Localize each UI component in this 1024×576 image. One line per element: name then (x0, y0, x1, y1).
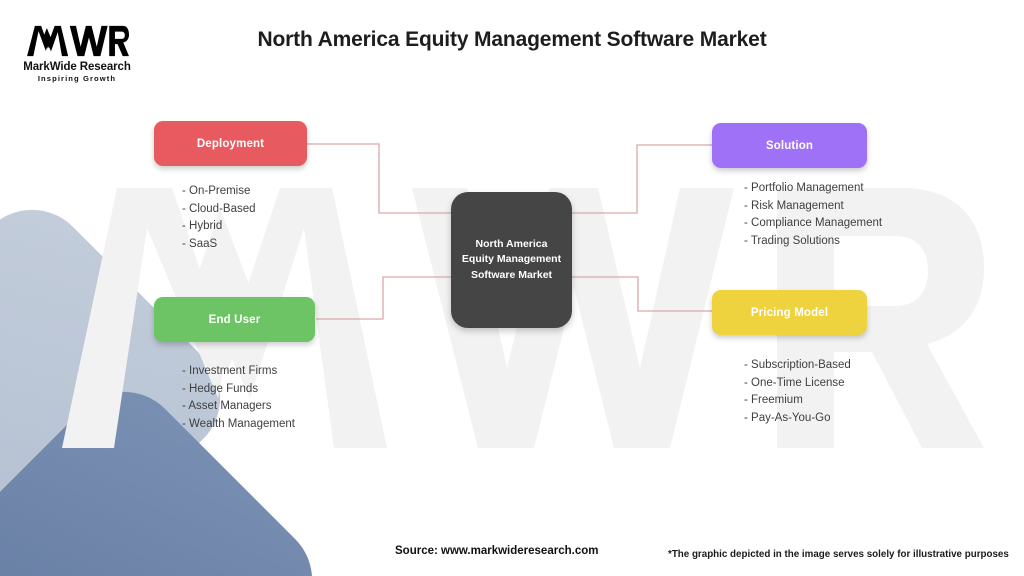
list-item: - Freemium (744, 392, 1022, 410)
list-item: - Asset Managers (182, 398, 454, 416)
branch-label-enduser: End User (209, 314, 261, 326)
list-item: - Risk Management (744, 198, 1022, 216)
list-item: - Investment Firms (182, 363, 454, 381)
branch-label-solution: Solution (766, 140, 813, 152)
branch-items-pricing: - Subscription-Based - One-Time License … (712, 357, 1022, 427)
branch-chip-deployment[interactable]: Deployment (154, 121, 307, 166)
list-item: - SaaS (182, 236, 454, 254)
list-item: - Pay-As-You-Go (744, 410, 1022, 428)
infographic-canvas: MarkWide Research Inspiring Growth North… (0, 0, 1024, 576)
branch-items-deployment: - On-Premise - Cloud-Based - Hybrid - Sa… (154, 183, 454, 253)
list-item: - Hedge Funds (182, 381, 454, 399)
brand-name: MarkWide Research (16, 61, 138, 74)
list-item: - Portfolio Management (744, 180, 1022, 198)
branch-enduser: End User - Investment Firms - Hedge Fund… (154, 297, 454, 433)
center-node-line-2: Equity Management (462, 252, 561, 267)
branch-label-pricing: Pricing Model (751, 307, 828, 319)
branch-items-solution: - Portfolio Management - Risk Management… (712, 180, 1022, 250)
list-item: - Compliance Management (744, 215, 1022, 233)
list-item: - Subscription-Based (744, 357, 1022, 375)
footer-source: Source: www.markwideresearch.com (395, 545, 598, 557)
connector-solution (572, 145, 712, 213)
branch-chip-enduser[interactable]: End User (154, 297, 315, 342)
list-item: - On-Premise (182, 183, 454, 201)
branch-label-deployment: Deployment (197, 138, 264, 150)
branch-items-enduser: - Investment Firms - Hedge Funds - Asset… (154, 363, 454, 433)
branch-chip-solution[interactable]: Solution (712, 123, 867, 168)
branch-deployment: Deployment - On-Premise - Cloud-Based - … (154, 121, 454, 253)
center-node-line-3: Software Market (462, 268, 561, 283)
center-node-line-1: North America (462, 237, 561, 252)
page-title: North America Equity Management Software… (0, 28, 1024, 52)
branch-chip-pricing[interactable]: Pricing Model (712, 290, 867, 335)
connector-pricing (572, 277, 712, 311)
list-item: - Wealth Management (182, 416, 454, 434)
list-item: - Trading Solutions (744, 233, 1022, 251)
footer-disclaimer: *The graphic depicted in the image serve… (668, 549, 1009, 560)
branch-solution: Solution - Portfolio Management - Risk M… (712, 123, 1022, 250)
center-node-label: North America Equity Management Software… (456, 237, 567, 283)
list-item: - One-Time License (744, 375, 1022, 393)
center-node: North America Equity Management Software… (451, 192, 572, 328)
brand-tagline: Inspiring Growth (16, 75, 138, 83)
list-item: - Hybrid (182, 218, 454, 236)
branch-pricing: Pricing Model - Subscription-Based - One… (712, 290, 1022, 427)
list-item: - Cloud-Based (182, 201, 454, 219)
